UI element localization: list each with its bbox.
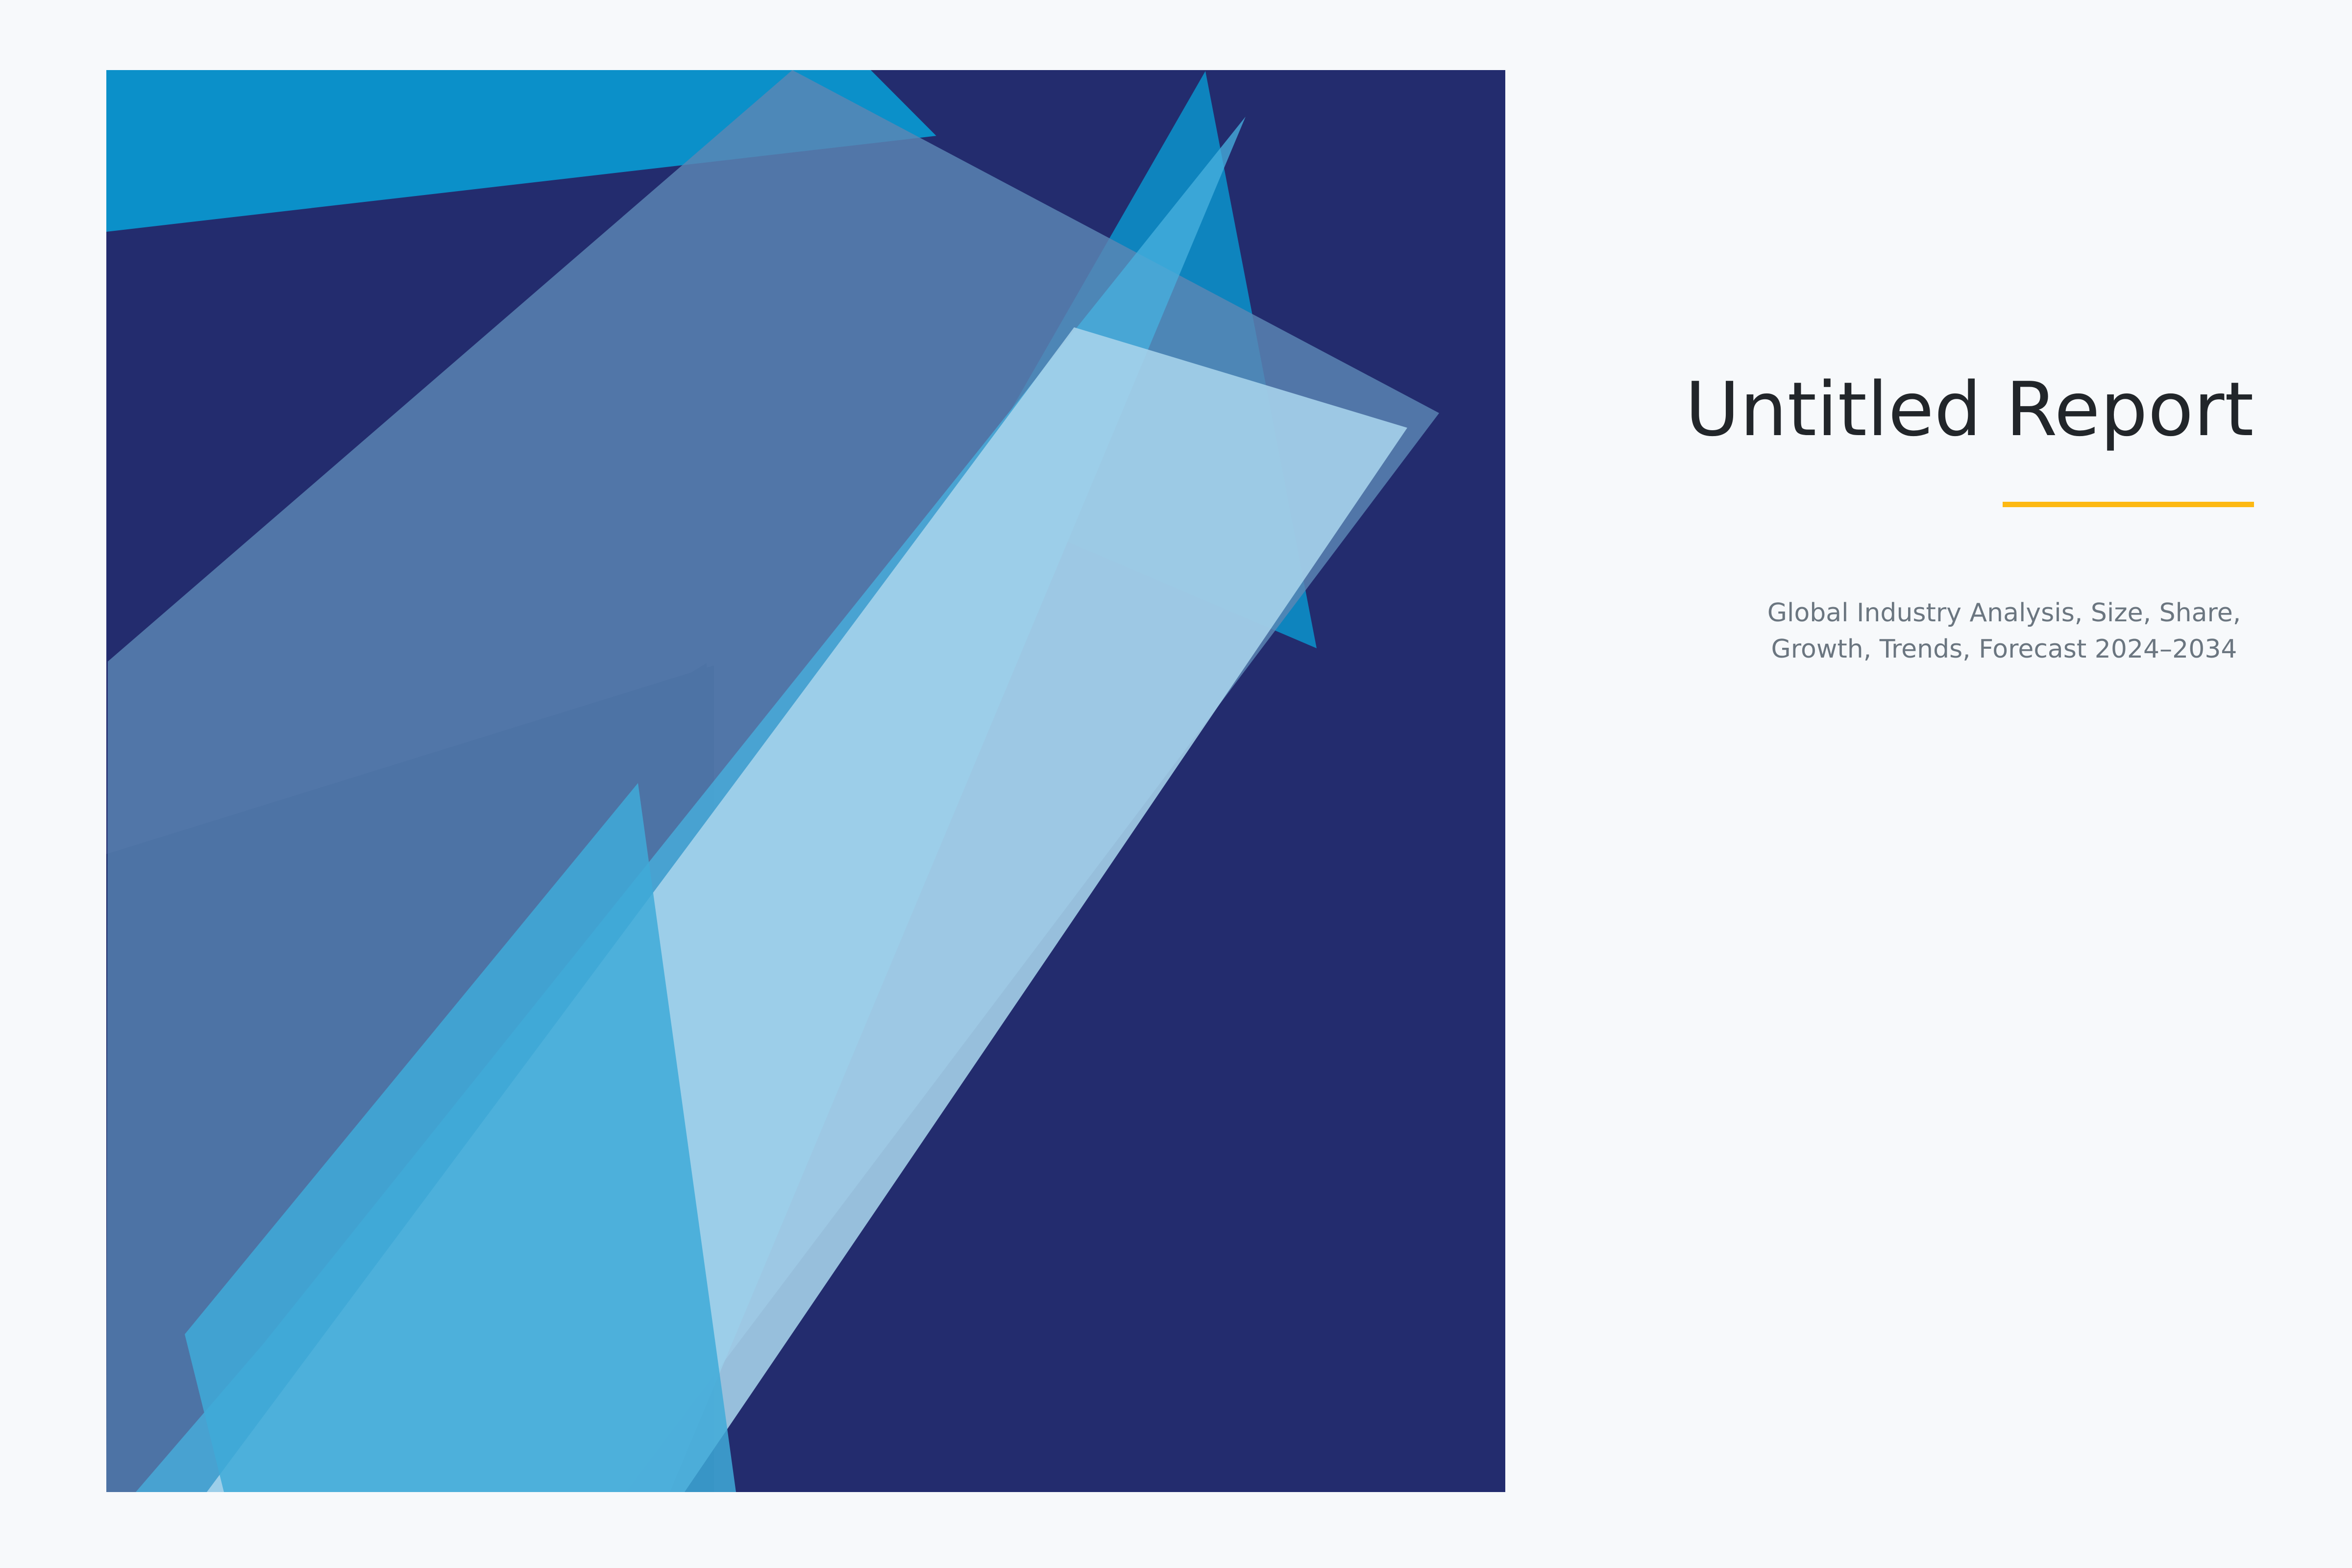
artwork-shape-group [106,70,1505,1492]
cover-text-block: Untitled Report Global Industry Analysis… [1568,372,2254,668]
report-subtitle-line-2: Growth, Trends, Forecast 2024–2034 [1754,632,2254,668]
cover-page: Untitled Report Global Industry Analysis… [0,0,2352,1568]
report-subtitle-line-1: Global Industry Analysis, Size, Share, [1754,595,2254,632]
report-subtitle: Global Industry Analysis, Size, Share, G… [1568,595,2254,668]
page-title: Untitled Report [1568,372,2254,447]
title-rule-container [1568,502,2254,507]
artwork-svg [106,70,1505,1492]
cover-artwork [106,70,1505,1492]
title-accent-rule [2003,502,2254,507]
